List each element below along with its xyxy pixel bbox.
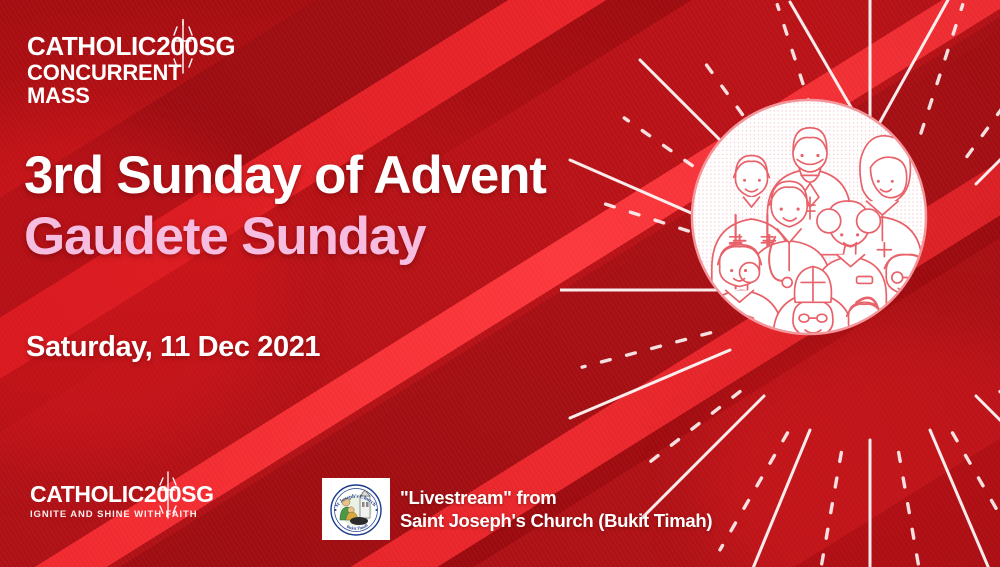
footer-logo-zeros: 00 <box>156 481 181 507</box>
livestream-text-block: "Livestream" from Saint Joseph's Church … <box>400 486 712 532</box>
footer-logo-catholic: CATHOLIC <box>30 483 144 506</box>
livestream-line-1: "Livestream" from <box>400 486 712 509</box>
livestream-line-2: Saint Joseph's Church (Bukit Timah) <box>400 509 712 532</box>
event-banner: CATHOLIC 2 00 SG CONCURREN <box>0 0 1000 567</box>
catholic200sg-concurrent-mass-logo: CATHOLIC 2 00 SG CONCURREN <box>27 33 287 107</box>
top-logo-catholic: CATHOLIC <box>27 33 156 59</box>
footer-logo-zeros-group: 00 <box>156 483 181 506</box>
livestream-credit: St Joseph's Church Bukit Timah "Livestre… <box>322 478 712 540</box>
top-logo-wordmark: CATHOLIC 2 00 SG <box>27 33 287 59</box>
catholic200sg-footer-logo: CATHOLIC 2 00 SG IGNITE AND SHINE WITH <box>30 483 270 521</box>
top-logo-line-concurrent: CONCURRENT <box>27 61 287 84</box>
top-logo-line-mass: MASS <box>27 84 287 107</box>
footer-logo-sg: SG <box>181 483 213 506</box>
page-title: 3rd Sunday of Advent Gaudete Sunday <box>24 146 684 268</box>
headline-line-1: 3rd Sunday of Advent <box>24 146 684 206</box>
top-logo-zeros-group: 00 <box>170 33 198 59</box>
footer-logo-wordmark: CATHOLIC 2 00 SG <box>30 483 270 506</box>
top-logo-zeros: 00 <box>170 31 198 61</box>
headline-line-2: Gaudete Sunday <box>24 206 684 268</box>
st-josephs-church-crest: St Joseph's Church Bukit Timah <box>322 478 390 540</box>
top-logo-two: 2 <box>156 33 170 59</box>
top-logo-sg: SG <box>198 33 235 59</box>
event-date: Saturday, 11 Dec 2021 <box>26 330 320 364</box>
footer-logo-two: 2 <box>144 483 156 506</box>
catholic-community-people-circle <box>690 98 928 336</box>
footer-logo-tagline: IGNITE AND SHINE WITH FAITH <box>30 509 270 521</box>
